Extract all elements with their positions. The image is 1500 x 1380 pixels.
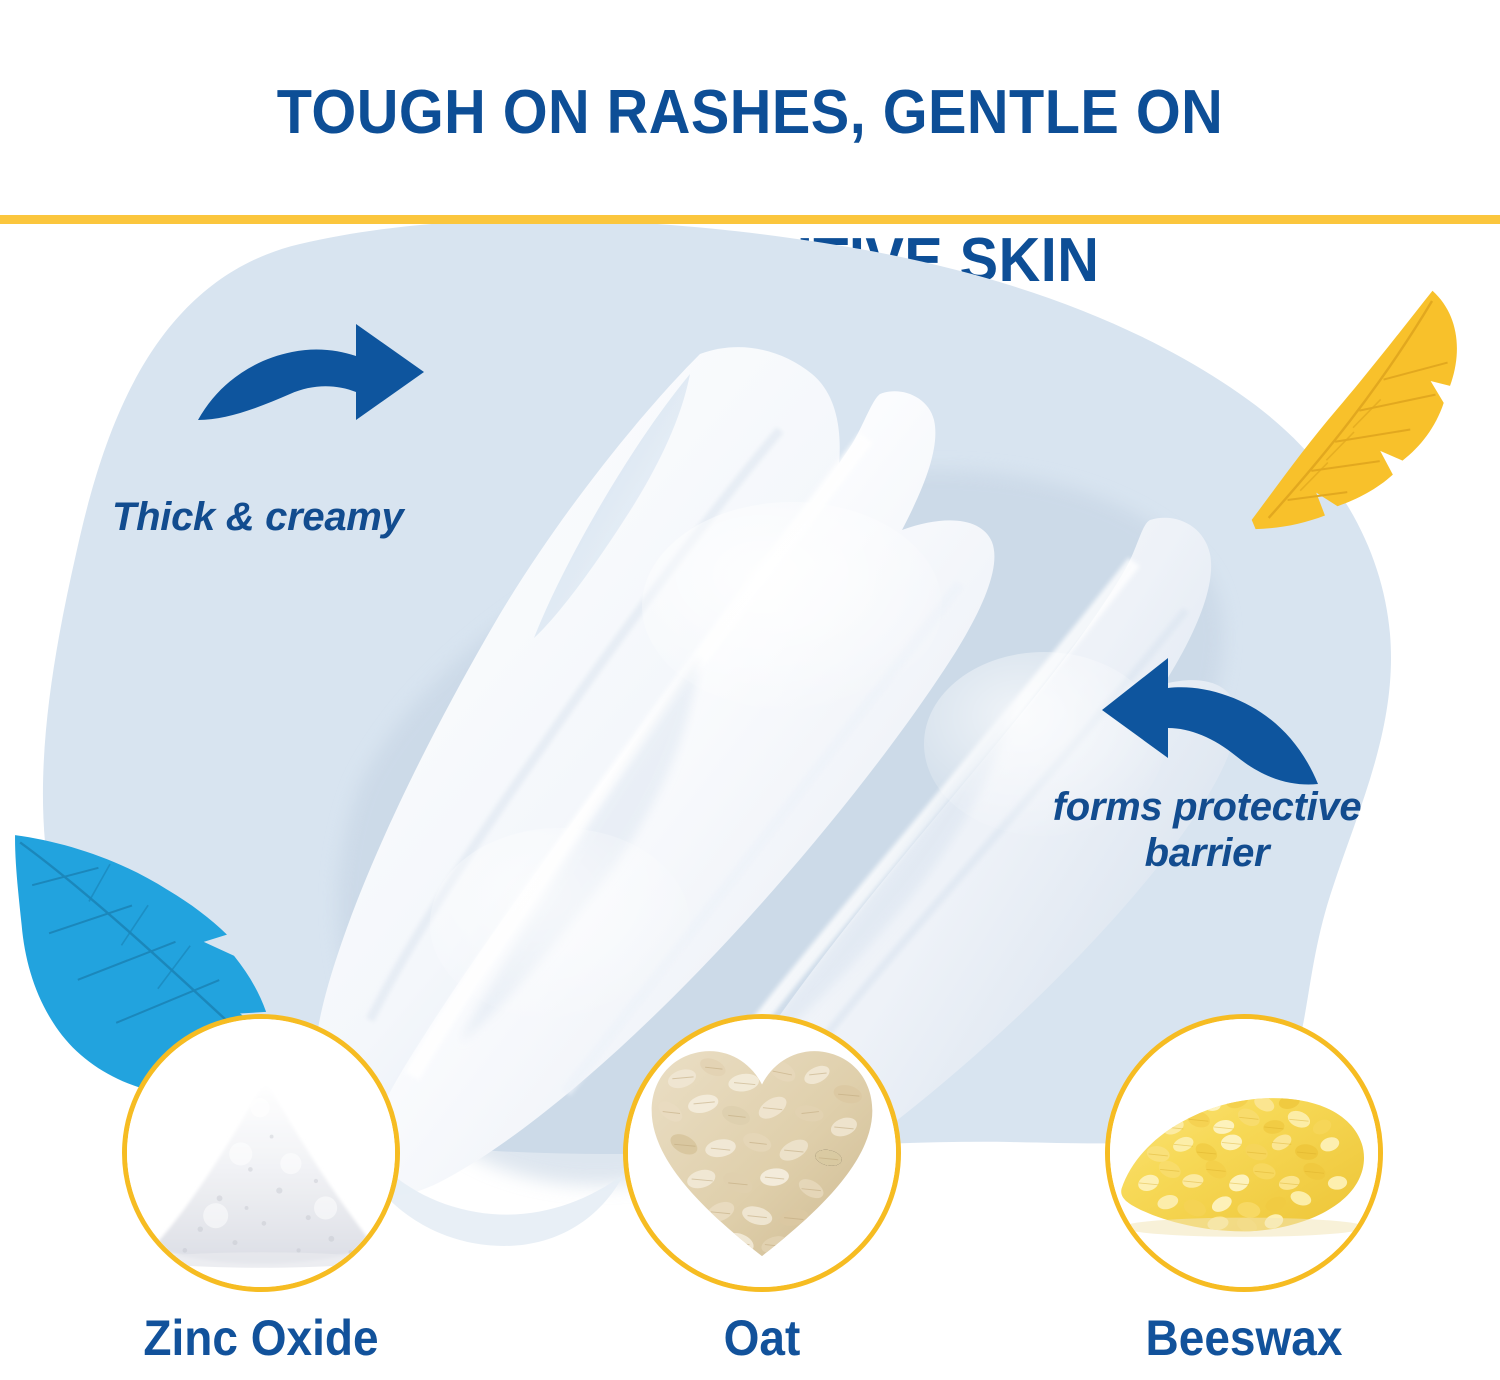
gold-divider: [0, 215, 1500, 224]
callout-line-2: barrier: [1145, 831, 1270, 875]
headline-line-1: TOUGH ON RASHES, GENTLE ON: [53, 76, 1448, 150]
oat-flakes-heart-icon: [628, 1019, 896, 1287]
callout-thick-creamy: Thick & creamy: [112, 494, 404, 540]
ingredient-zinc-oxide[interactable]: Zinc Oxide: [122, 1014, 400, 1292]
beeswax-pellets-icon: [1110, 1019, 1378, 1287]
ingredient-beeswax[interactable]: Beeswax: [1105, 1014, 1383, 1292]
ingredient-oat[interactable]: Oat: [623, 1014, 901, 1292]
ingredient-label-beeswax: Beeswax: [1033, 1310, 1454, 1366]
callout-protective-barrier: forms protective barrier: [1022, 784, 1392, 876]
ingredient-label-zinc-oxide: Zinc Oxide: [50, 1310, 471, 1366]
ingredient-label-oat: Oat: [551, 1310, 972, 1366]
zinc-oxide-powder-icon: [127, 1019, 395, 1287]
leaf-yellow-icon: [1250, 262, 1472, 567]
ingredient-circle-oat: [623, 1014, 901, 1292]
ingredient-circle-beeswax: [1105, 1014, 1383, 1292]
ingredient-circle-zinc-oxide: [122, 1014, 400, 1292]
callout-line-1: forms protective: [1053, 785, 1362, 829]
